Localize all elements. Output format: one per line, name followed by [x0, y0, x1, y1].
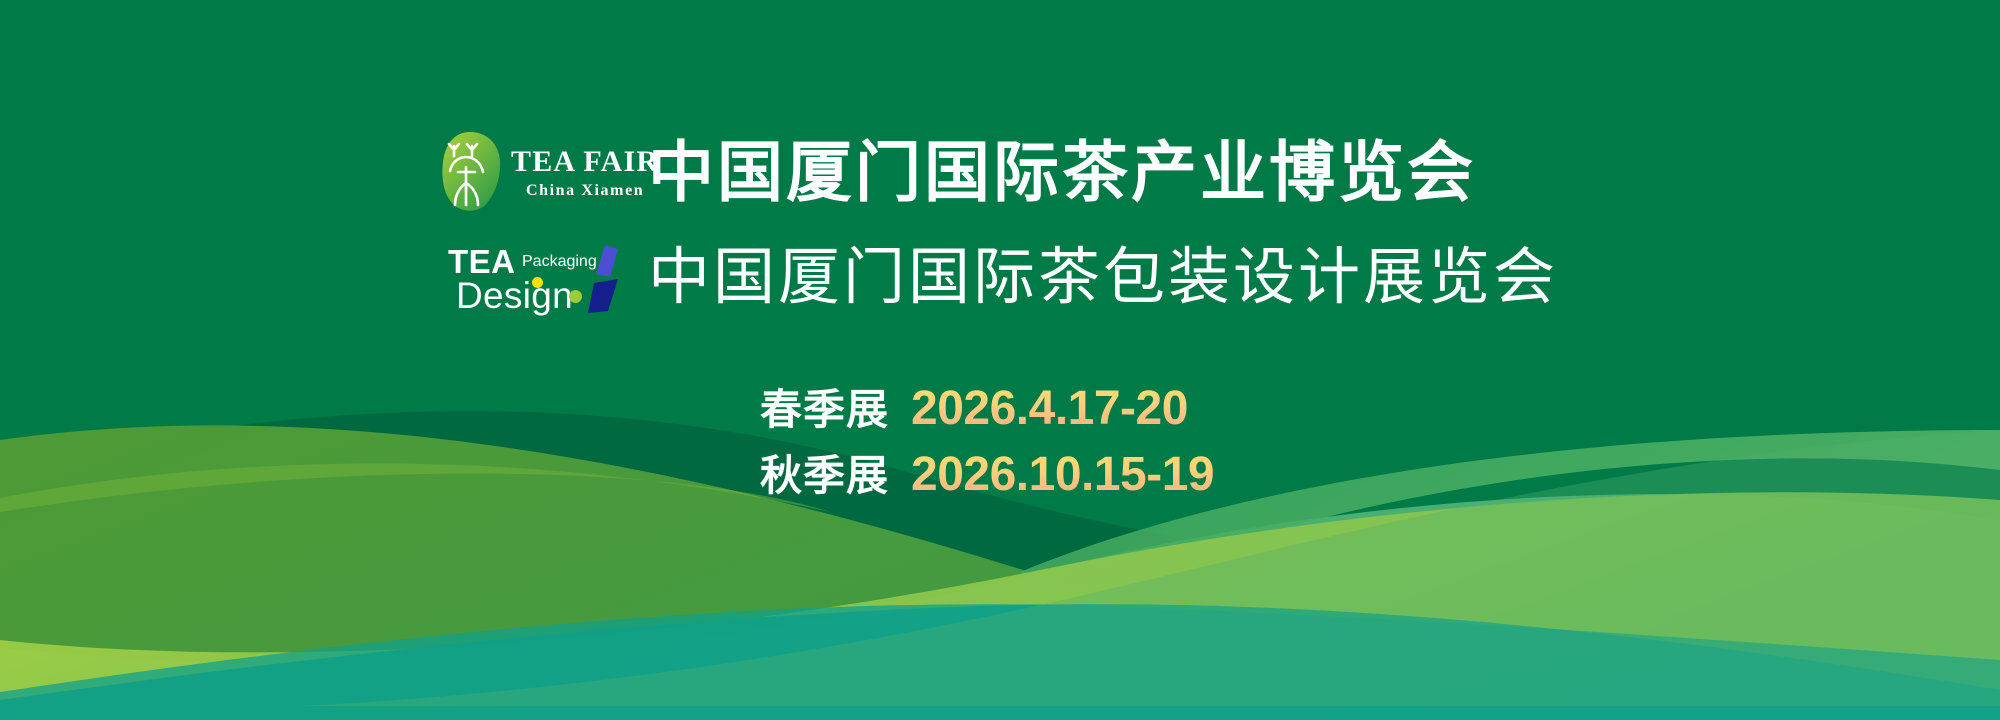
tea-design-word-packaging: Packaging: [522, 254, 597, 270]
title-row-primary: TEA FAIR China Xiamen 中国厦门国际茶产业博览会: [440, 128, 1558, 216]
tea-fair-wordmark: TEA FAIR China Xiamen: [511, 145, 659, 199]
tea-design-word-design: Design: [456, 277, 573, 314]
page-title: 中国厦门国际茶产业博览会: [648, 139, 1476, 205]
date-text-autumn: 2026.10.15-19: [911, 451, 1214, 499]
logo-tea-design[interactable]: TEA Packaging Design: [440, 235, 622, 321]
dates-block: 春季展 2026.4.17-20 秋季展 2026.10.15-19: [760, 385, 1214, 503]
expo-banner: TEA FAIR China Xiamen 中国厦门国际茶产业博览会 TEA P…: [0, 0, 2000, 720]
dot-in-g-icon: [569, 290, 582, 303]
blue-parallelogram-mark-icon: [588, 243, 622, 317]
season-label-autumn: 秋季展: [760, 455, 889, 497]
date-row-spring: 春季展 2026.4.17-20: [760, 385, 1214, 437]
date-text-spring: 2026.4.17-20: [911, 385, 1188, 433]
dot-over-i-icon: [532, 277, 543, 288]
logo-tea-fair[interactable]: TEA FAIR China Xiamen: [440, 129, 622, 215]
tea-leaf-mark-icon: [440, 131, 502, 213]
banner-content: TEA FAIR China Xiamen 中国厦门国际茶产业博览会 TEA P…: [0, 0, 2000, 720]
season-label-spring: 春季展: [760, 389, 889, 431]
tea-design-word-tea: TEA: [448, 245, 516, 278]
title-row-secondary: TEA Packaging Design 中国厦门国际茶包装设计: [440, 234, 1558, 322]
tea-fair-line1: TEA FAIR: [511, 147, 659, 177]
header-block: TEA FAIR China Xiamen 中国厦门国际茶产业博览会 TEA P…: [440, 128, 1558, 322]
tea-fair-line2: China Xiamen: [526, 183, 644, 199]
page-subtitle: 中国厦门国际茶包装设计展览会: [648, 247, 1558, 309]
date-row-autumn: 秋季展 2026.10.15-19: [760, 451, 1214, 503]
